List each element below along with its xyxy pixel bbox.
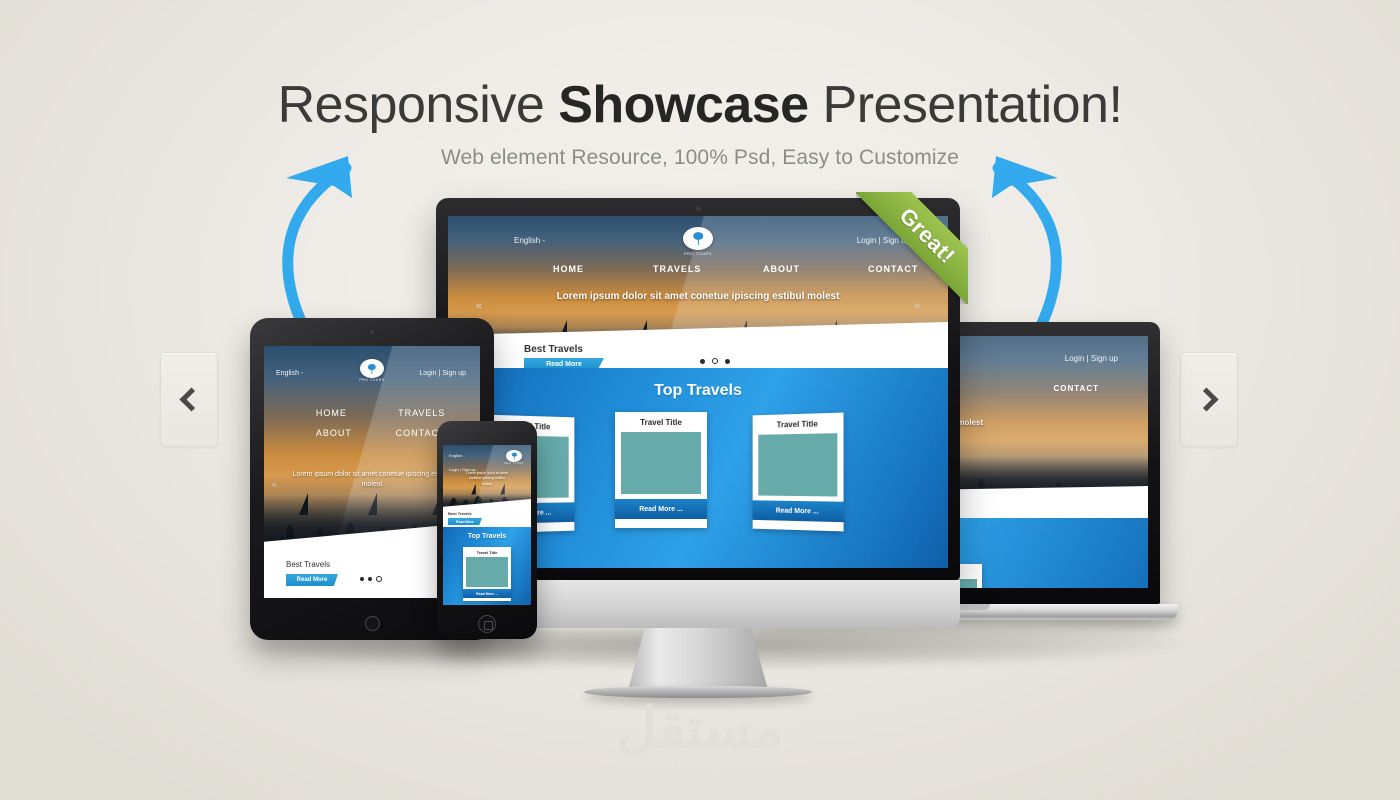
language-selector[interactable]: English - xyxy=(276,370,303,377)
auth-links: Login | Sign up xyxy=(857,236,910,245)
chevron-right-icon xyxy=(1194,387,1218,411)
phone-site-view: English - Login | Sign up PRO TOURS Lore… xyxy=(443,445,531,605)
phone-screen[interactable]: English - Login | Sign up PRO TOURS Lore… xyxy=(443,445,531,605)
page-title: Responsive Showcase Presentation! xyxy=(0,78,1400,133)
card-read-more-button[interactable]: Read More ... xyxy=(753,500,844,522)
section-title: Top Travels xyxy=(443,533,531,540)
slider-dot[interactable] xyxy=(368,577,372,581)
phone-top-travels-section: Top Travels Travel Title Read More ... xyxy=(443,527,531,605)
card-read-more-button[interactable]: Read More ... xyxy=(463,589,511,598)
slider-prev-arrow[interactable]: « xyxy=(476,300,482,312)
nav-item-contact[interactable]: CONTACT xyxy=(868,264,918,274)
travel-card[interactable]: Travel Title Read More ... xyxy=(463,547,511,601)
card-read-more-button[interactable]: Read More ... xyxy=(615,499,707,519)
promo-read-more-button[interactable]: Read More xyxy=(448,518,482,525)
auth-separator: | xyxy=(879,236,881,245)
tablet-home-button[interactable] xyxy=(365,616,380,631)
hero-headline: Lorem ipsum dolor sit amet conetue ipisc… xyxy=(448,290,948,304)
hero-slider-dots[interactable] xyxy=(700,358,730,364)
nav-item-travels[interactable]: TRAVELS xyxy=(398,408,445,418)
watermark-latin: mostaql.com xyxy=(0,758,1400,790)
logo-name: PRO TOURS xyxy=(503,462,525,465)
headline-part-1: Responsive xyxy=(278,76,559,134)
showcase-stage: Responsive Showcase Presentation! Web el… xyxy=(0,0,1400,800)
language-selector[interactable]: English - xyxy=(514,236,545,245)
promo-title: Best Travels xyxy=(524,344,583,355)
slider-dot[interactable] xyxy=(700,359,705,364)
slider-prev-arrow[interactable]: « xyxy=(272,480,276,489)
promo-title: Best Travels xyxy=(286,560,330,569)
auth-separator: | xyxy=(1087,354,1089,363)
card-title: Travel Title xyxy=(758,419,837,430)
logo-name: PRO TOURS xyxy=(352,378,392,382)
imac-stand-neck xyxy=(628,628,768,690)
headline-part-2: Presentation! xyxy=(809,76,1123,134)
travel-card[interactable]: Travel Title Read More ... xyxy=(753,413,844,532)
auth-separator: | xyxy=(438,370,440,377)
promo-read-more-button[interactable]: Read More xyxy=(286,574,338,586)
nav-item-about[interactable]: ABOUT xyxy=(316,428,352,438)
slider-next-arrow[interactable]: » xyxy=(914,300,920,312)
bird-logo-icon xyxy=(683,227,713,250)
bird-logo-icon xyxy=(360,359,384,378)
language-selector[interactable]: English - xyxy=(449,453,465,458)
slider-dot-active[interactable] xyxy=(712,358,718,364)
section-title: Top Travels xyxy=(448,382,948,400)
slider-dot-active[interactable] xyxy=(376,576,382,582)
login-link[interactable]: Login xyxy=(857,236,877,245)
bird-logo-icon xyxy=(506,450,522,462)
nav-item-about[interactable]: ABOUT xyxy=(763,264,800,274)
site-logo[interactable]: PRO TOURS xyxy=(503,450,525,465)
auth-links: Login | Sign up xyxy=(419,370,466,377)
eiffel-tower-photo xyxy=(621,432,701,494)
curved-arrow-up-left-icon xyxy=(962,150,1072,350)
nav-item-home[interactable]: HOME xyxy=(316,408,347,418)
login-link[interactable]: Login xyxy=(1065,354,1085,363)
nav-item-travels[interactable]: TRAVELS xyxy=(653,264,701,274)
mountain-lake-photo xyxy=(466,557,508,587)
hero-boat-icon xyxy=(368,493,377,515)
slider-prev-button[interactable] xyxy=(160,352,218,447)
travel-card[interactable]: Travel Title Read More ... xyxy=(615,412,707,528)
front-camera-icon xyxy=(370,330,374,334)
phone-home-button[interactable] xyxy=(478,615,496,633)
login-link[interactable]: Login xyxy=(419,370,436,377)
london-bigben-photo xyxy=(758,433,837,496)
chevron-left-icon xyxy=(179,387,203,411)
signup-link[interactable]: Sign up xyxy=(1091,354,1118,363)
slider-dot[interactable] xyxy=(725,359,730,364)
watermark-arabic: مستقل xyxy=(0,700,1400,756)
logo-name: PRO TOURS xyxy=(672,251,724,256)
site-logo[interactable]: PRO TOURS xyxy=(672,227,724,256)
imac-site-nav: HOME TRAVELS ABOUT CONTACT xyxy=(448,264,948,282)
headline-emphasis: Showcase xyxy=(558,76,808,134)
card-title: Travel Title xyxy=(466,550,508,555)
auth-links: Login | Sign up xyxy=(1065,354,1118,363)
page-subtitle: Web element Resource, 100% Psd, Easy to … xyxy=(0,146,1400,170)
signup-link[interactable]: Sign up xyxy=(883,236,910,245)
hero-headline: Lorem ipsum dolor sit amet conetue ipisc… xyxy=(443,471,531,487)
smartphone-device: English - Login | Sign up PRO TOURS Lore… xyxy=(437,421,537,639)
slider-next-button[interactable] xyxy=(1180,352,1238,447)
webcam-icon xyxy=(696,206,701,211)
earpiece-speaker xyxy=(474,434,500,437)
hero-slider-dots[interactable] xyxy=(360,576,382,582)
slider-dot[interactable] xyxy=(360,577,364,581)
nav-item-home[interactable]: HOME xyxy=(553,264,584,274)
nav-item-contact[interactable]: CONTACT xyxy=(1053,384,1099,393)
watermark: مستقل mostaql.com xyxy=(0,700,1400,790)
card-title: Travel Title xyxy=(621,418,701,427)
site-logo[interactable]: PRO TOURS xyxy=(352,359,392,382)
signup-link[interactable]: Sign up xyxy=(442,370,466,377)
front-camera-icon xyxy=(486,427,489,430)
hero-boat-icon xyxy=(299,493,308,515)
promo-title: Best Travels xyxy=(448,511,472,516)
